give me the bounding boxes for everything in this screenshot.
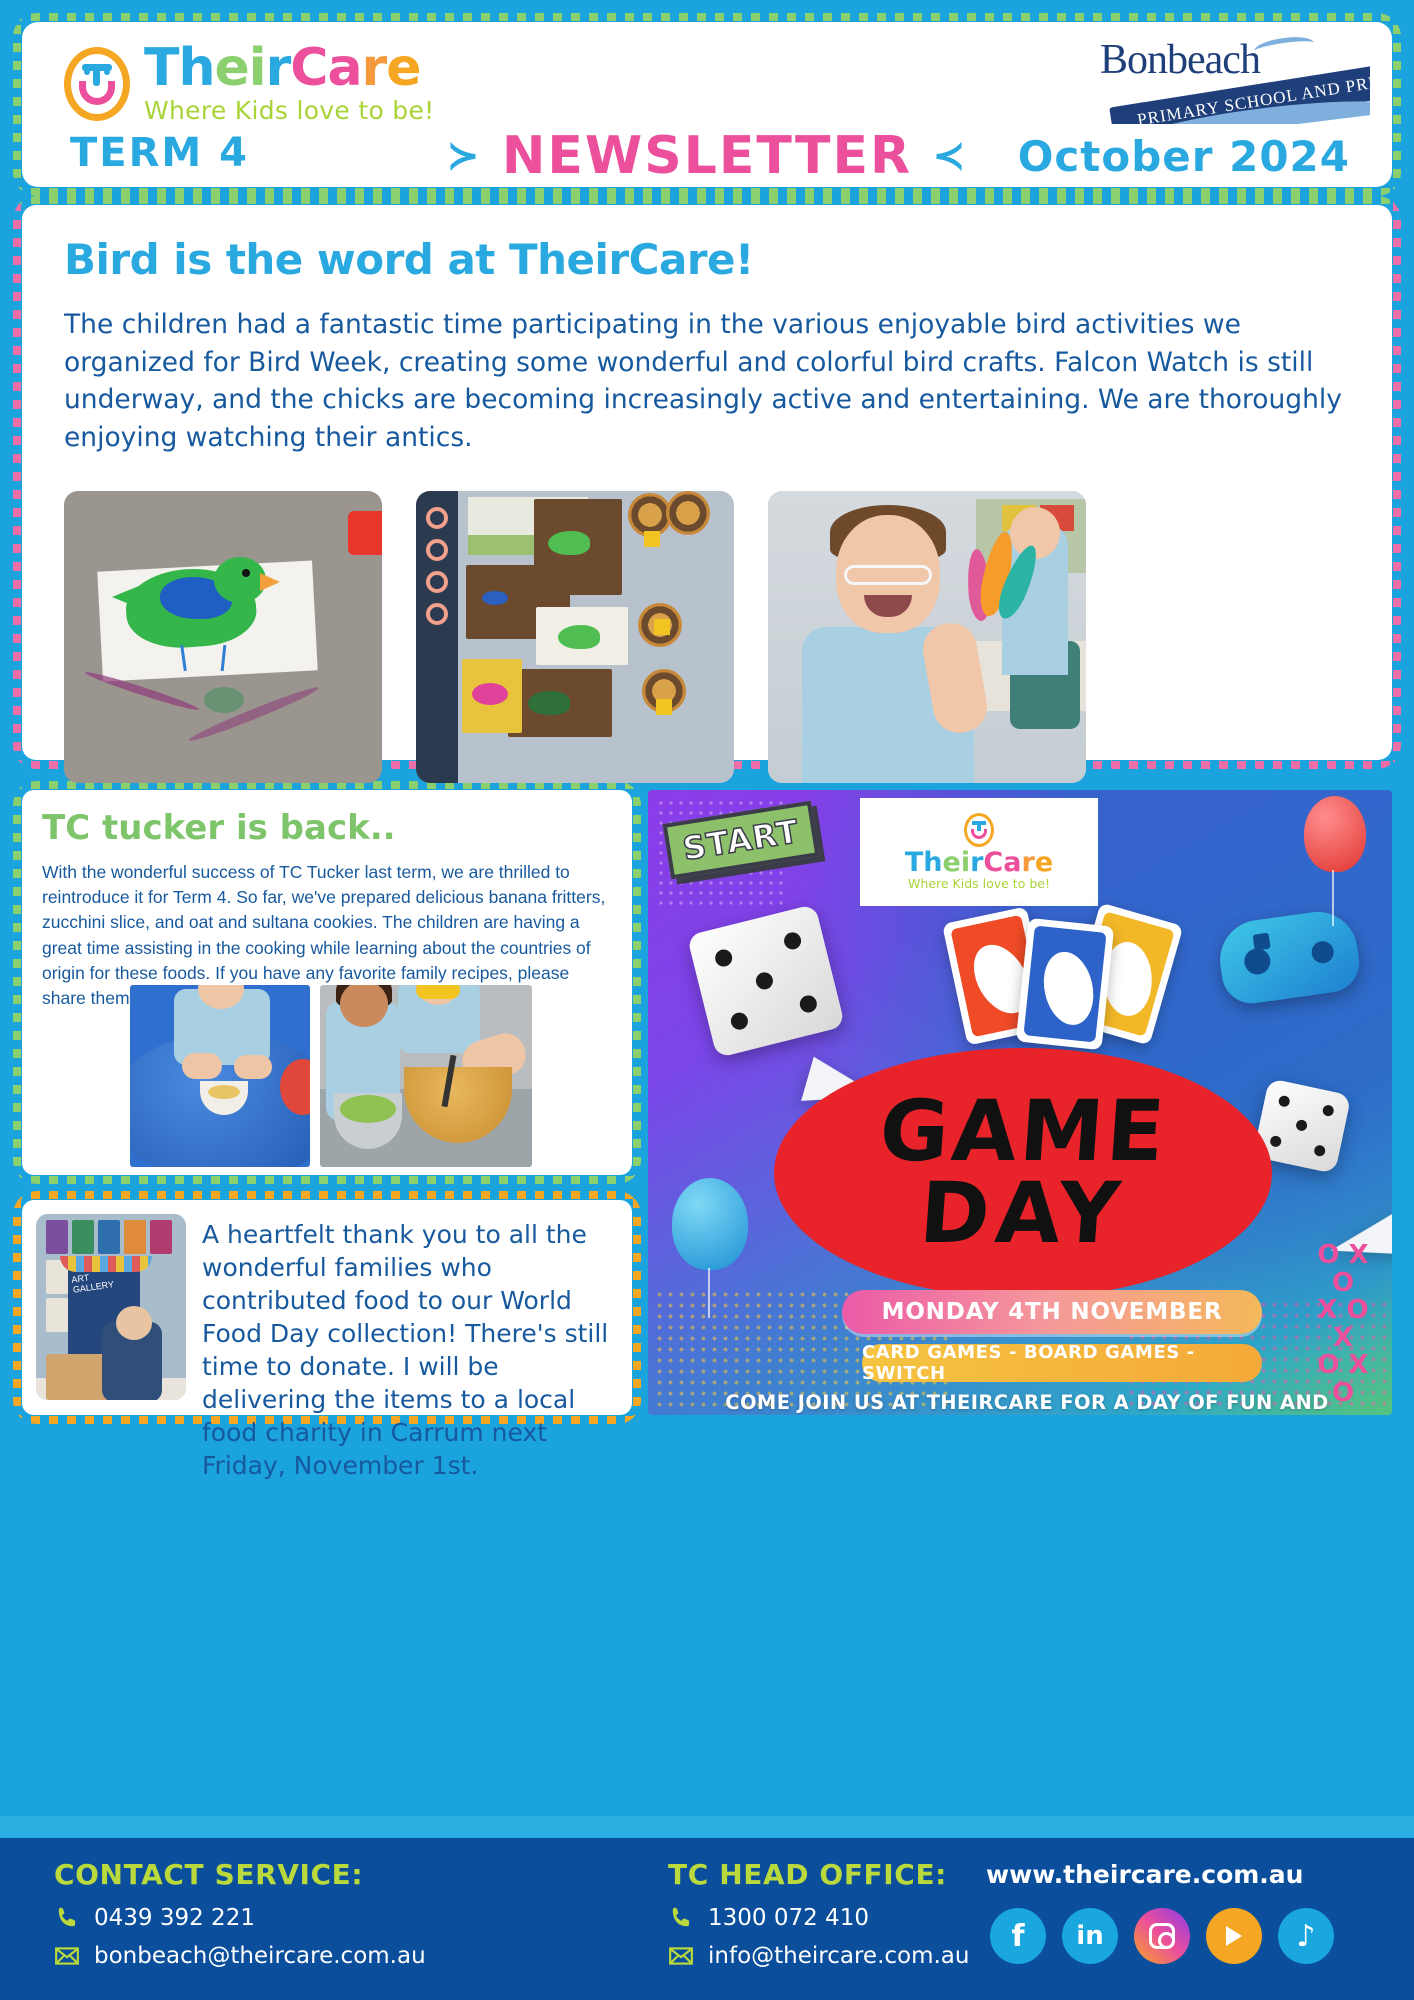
envelope-icon [668, 1943, 694, 1969]
photo-boy-with-feather [768, 491, 1086, 783]
contact-service-title: CONTACT SERVICE: [54, 1858, 426, 1891]
start-label: START [680, 812, 802, 868]
photo-child-stirring-bowl [130, 985, 310, 1167]
footer-wave-decor [0, 1816, 1414, 1838]
tiktok-icon[interactable]: ♪ [1278, 1908, 1334, 1964]
contact-service-phone-row[interactable]: 0439 392 221 [54, 1905, 426, 1931]
brand-tagline: Where Kids love to be! [144, 96, 434, 125]
head-office-email-row[interactable]: info@theircare.com.au [668, 1943, 969, 1969]
game-day-games-banner: CARD GAMES - BOARD GAMES - SWITCH [862, 1344, 1262, 1382]
contact-service-email: bonbeach@theircare.com.au [94, 1943, 426, 1969]
bird-article-heading: Bird is the word at TheirCare! [64, 235, 1392, 284]
facebook-icon[interactable]: f [990, 1908, 1046, 1964]
social-links: f in ♪ [990, 1908, 1334, 1964]
chevron-left-decor: ≻ [446, 133, 482, 179]
game-day-title-line1: GAME [877, 1094, 1169, 1170]
poster-brand-tagline: Where Kids love to be! [908, 876, 1050, 891]
website-url[interactable]: www.theircare.com.au [986, 1860, 1303, 1889]
bird-article-body: The children had a fantastic time partic… [64, 306, 1350, 457]
contact-service-block: CONTACT SERVICE: 0439 392 221 bonbeach@t… [54, 1858, 426, 1981]
game-controller-icon [1215, 907, 1363, 1007]
game-day-games-text: CARD GAMES - BOARD GAMES - SWITCH [862, 1342, 1262, 1384]
tc-tucker-section: TC tucker is back.. With the wonderful s… [22, 790, 632, 1175]
contact-service-phone: 0439 392 221 [94, 1905, 255, 1931]
theircare-smiley-icon [964, 813, 994, 847]
envelope-icon [54, 1943, 80, 1969]
balloon-icon [1304, 796, 1366, 872]
poster-brand-wordmark: TheirCare [905, 849, 1053, 876]
balloon-icon [672, 1178, 748, 1270]
newsletter-header: TheirCare Where Kids love to be! TERM 4 … [22, 22, 1392, 187]
photo-food-donation-box: ARTGALLERY [36, 1214, 186, 1400]
game-day-date-text: MONDAY 4TH NOVEMBER [882, 1299, 1223, 1325]
world-food-day-section: ARTGALLERY A heartfelt thank you to all … [22, 1200, 632, 1415]
linkedin-icon[interactable]: in [1062, 1908, 1118, 1964]
photo-children-whisking [320, 985, 532, 1167]
brand-wordmark: TheirCare [144, 42, 434, 94]
dice-icon [687, 904, 846, 1058]
world-food-day-text: A heartfelt thank you to all the wonderf… [202, 1214, 616, 1401]
theircare-logo: TheirCare Where Kids love to be! [64, 42, 434, 125]
bird-article-section: Bird is the word at TheirCare! The child… [22, 205, 1392, 760]
game-day-title-badge: GAME DAY [774, 1048, 1272, 1298]
head-office-email: info@theircare.com.au [708, 1943, 969, 1969]
photo-bird-painting [64, 491, 382, 783]
theircare-smiley-icon [64, 47, 130, 121]
phone-icon [54, 1905, 80, 1931]
newsletter-title-text: NEWSLETTER [502, 126, 912, 186]
chevron-right-decor: ≺ [932, 133, 968, 179]
game-day-info-line: COME JOIN US AT THEIRCARE FOR A DAY OF F… [688, 1390, 1366, 1415]
tic-tac-toe-decor: O X OX O XO X O [1304, 1242, 1382, 1348]
playing-cards-icon [948, 908, 1178, 1058]
issue-date: October 2024 [1018, 132, 1350, 181]
youtube-icon[interactable] [1206, 1908, 1262, 1964]
contact-service-email-row[interactable]: bonbeach@theircare.com.au [54, 1943, 426, 1969]
bonbeach-school-logo: Bonbeach PRIMARY SCHOOL AND PRE-SCHOOL [1100, 36, 1370, 124]
bird-photo-gallery [64, 491, 1392, 783]
head-office-title: TC HEAD OFFICE: [668, 1858, 969, 1891]
photo-bird-wall-display [416, 491, 734, 783]
instagram-icon[interactable] [1134, 1908, 1190, 1964]
newsletter-footer: CONTACT SERVICE: 0439 392 221 bonbeach@t… [0, 1832, 1414, 2000]
phone-icon [668, 1905, 694, 1931]
poster-theircare-logo: TheirCare Where Kids love to be! [860, 798, 1098, 906]
game-day-info-block: COME JOIN US AT THEIRCARE FOR A DAY OF F… [688, 1390, 1366, 1415]
head-office-phone-row[interactable]: 1300 072 410 [668, 1905, 969, 1931]
game-day-title-line2: DAY [918, 1176, 1129, 1252]
tc-tucker-photo-gallery [130, 985, 532, 1167]
game-day-poster: START TheirCare Where Kids love to be! [648, 790, 1392, 1415]
head-office-block: TC HEAD OFFICE: 1300 072 410 info@theirc… [668, 1858, 969, 1981]
game-day-date-banner: MONDAY 4TH NOVEMBER [842, 1290, 1262, 1334]
head-office-phone: 1300 072 410 [708, 1905, 869, 1931]
tc-tucker-heading: TC tucker is back.. [42, 808, 632, 848]
